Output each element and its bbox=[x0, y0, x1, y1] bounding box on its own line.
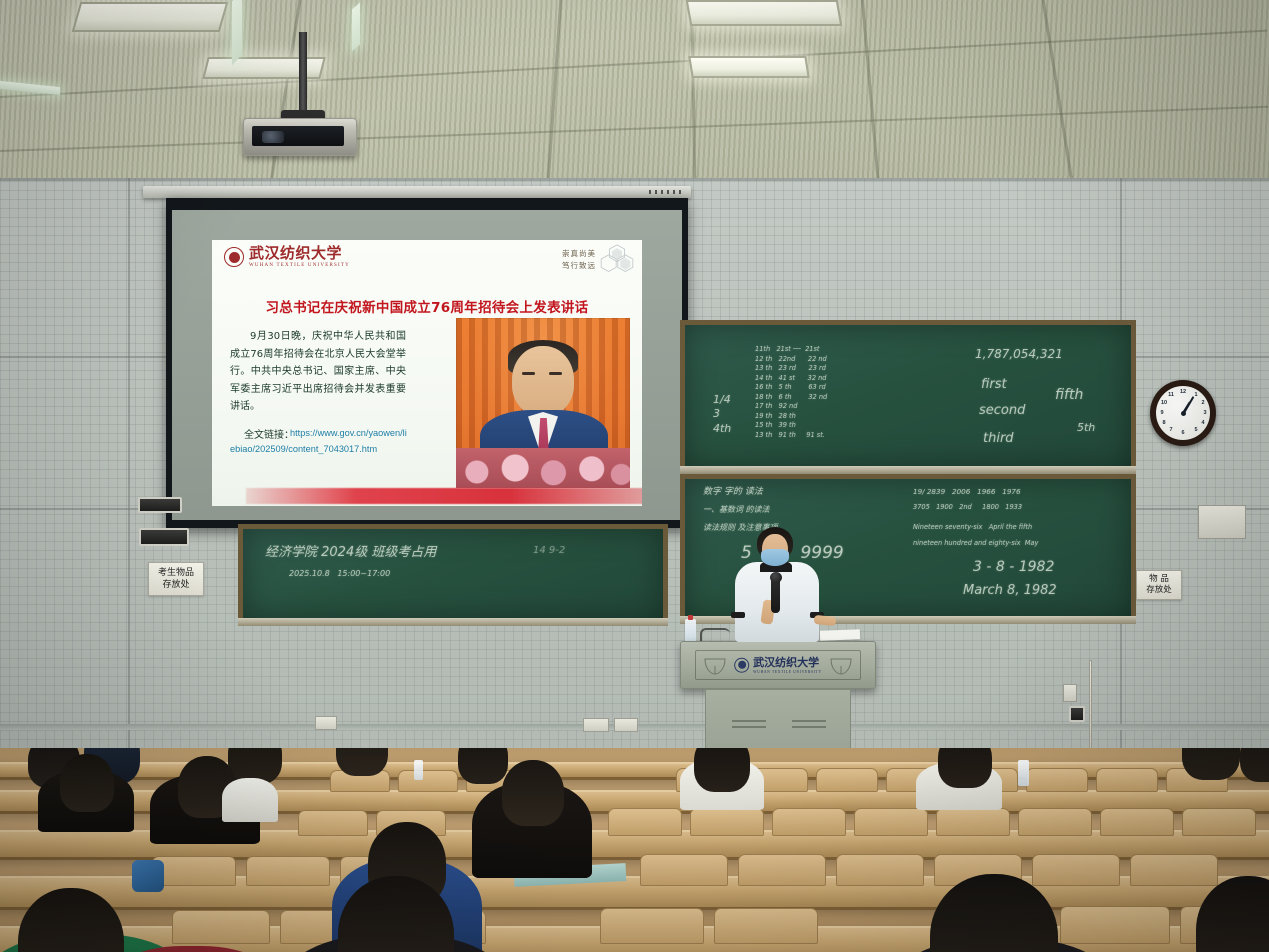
wall-outlet-box[interactable] bbox=[1069, 706, 1085, 722]
hexagon-decoration-icon bbox=[600, 244, 634, 274]
projection-screen-housing[interactable] bbox=[143, 186, 691, 198]
blackboard-ordinal-first: first bbox=[981, 377, 1007, 393]
blackboard-ordinals-column: 11th 21st ── 21st 12 th 22nd 22 nd 13 th… bbox=[755, 345, 827, 440]
slide-motto: 崇真尚美 笃行致远 bbox=[562, 248, 596, 271]
wall-conduit bbox=[1089, 660, 1092, 750]
blackboard-left-chalk-tray bbox=[238, 618, 668, 626]
seat[interactable] bbox=[1182, 808, 1256, 836]
seat[interactable] bbox=[152, 856, 236, 886]
blackboard-ordinal-5th: 5th bbox=[1077, 421, 1095, 435]
slide-title: 习总书记在庆祝新中国成立76周年招待会上发表讲话 bbox=[212, 296, 642, 316]
projector-mount-pole bbox=[299, 32, 307, 118]
seat[interactable] bbox=[836, 854, 924, 886]
wall-switch-plate-left2 bbox=[614, 718, 638, 732]
slide-body-text: 9月30日晚，庆祝中华人民共和国成立76周年招待会在北京人民大会堂举行。中共中央… bbox=[230, 328, 406, 416]
blackboard-ordinal-second: second bbox=[979, 403, 1025, 419]
seat[interactable] bbox=[246, 856, 330, 886]
blackboard-right-top-tray bbox=[680, 466, 1136, 474]
clock-numeral: 11 bbox=[1167, 392, 1175, 398]
student-head bbox=[694, 748, 750, 792]
slide-university-header: 武汉纺织大学 WUHAN TEXTILE UNIVERSITY bbox=[224, 246, 350, 268]
clock-numeral: 8 bbox=[1160, 420, 1168, 426]
clock-numeral: 7 bbox=[1167, 427, 1175, 433]
blackboard-en-line-1: 19/ 2839 2006 1966 1976 bbox=[913, 487, 1021, 496]
lecture-notes[interactable] bbox=[820, 629, 860, 640]
seat[interactable] bbox=[1026, 768, 1088, 792]
sign-left-line-1: 考生物品 存放处 bbox=[149, 567, 203, 591]
student-head bbox=[938, 748, 992, 788]
seat[interactable] bbox=[298, 810, 368, 836]
blackboard-left: 经济学院 2024级 班级考占用 2025.10.8 15:00~17:00 1… bbox=[238, 524, 668, 624]
clock-numeral: 5 bbox=[1192, 427, 1200, 433]
blackboard-ordinal-third: third bbox=[983, 431, 1014, 447]
blackboard-fraction-note: 1/4 3 4th bbox=[713, 393, 731, 436]
blackboard-left-line-1: 经济学院 2024级 班级考占用 bbox=[265, 545, 436, 561]
wall-panel-plate bbox=[1198, 505, 1246, 539]
lecture-hall-scene: 武汉纺织大学 WUHAN TEXTILE UNIVERSITY 崇真尚美 笃行致… bbox=[0, 0, 1269, 952]
wall-clock: 12 1 2 3 4 5 6 7 8 9 10 11 bbox=[1150, 380, 1216, 446]
university-name-en: WUHAN TEXTILE UNIVERSITY bbox=[249, 263, 350, 268]
photo-figure-eye-left bbox=[522, 372, 535, 375]
seat[interactable] bbox=[936, 808, 1010, 836]
seat[interactable] bbox=[854, 808, 928, 836]
audience-seating-area bbox=[0, 748, 1269, 952]
podium-university-name-en: WUHAN TEXTILE UNIVERSITY bbox=[753, 669, 822, 673]
blackboard-right-top: 11th 21st ── 21st 12 th 22nd 22 nd 13 th… bbox=[680, 320, 1136, 472]
clock-face: 12 1 2 3 4 5 6 7 8 9 10 11 bbox=[1156, 386, 1210, 440]
university-seal-icon bbox=[224, 247, 244, 267]
clock-numeral: 4 bbox=[1199, 420, 1207, 426]
motto-line-1: 崇真尚美 bbox=[562, 248, 596, 260]
seat[interactable] bbox=[714, 908, 818, 944]
clock-numeral: 9 bbox=[1158, 410, 1166, 416]
wall-speaker-box bbox=[138, 497, 182, 513]
slide-footer-bar bbox=[246, 488, 642, 504]
podium-seal-icon bbox=[734, 658, 749, 673]
blackboard-left-corner-note: 14 9-2 bbox=[533, 545, 565, 558]
seat[interactable] bbox=[600, 908, 704, 944]
blackboard-en-line-3: Nineteen seventy-six April the fifth bbox=[913, 523, 1032, 531]
university-name-cn: 武汉纺织大学 bbox=[249, 246, 350, 261]
lecturer-sleeve-left bbox=[731, 612, 745, 618]
seat[interactable] bbox=[772, 808, 846, 836]
ceiling-light-panel bbox=[688, 56, 809, 78]
student-shoulders bbox=[222, 778, 278, 822]
seat[interactable] bbox=[690, 808, 764, 836]
lecturer-face-mask bbox=[761, 549, 789, 566]
slide-photo bbox=[456, 318, 630, 488]
wall-switch-plate bbox=[1063, 684, 1077, 702]
student-head bbox=[502, 760, 564, 826]
clock-numeral: 12 bbox=[1179, 389, 1187, 395]
screen-surface: 武汉纺织大学 WUHAN TEXTILE UNIVERSITY 崇真尚美 笃行致… bbox=[172, 210, 682, 520]
seat[interactable] bbox=[1100, 808, 1174, 836]
ceiling-tube-light bbox=[232, 0, 242, 66]
ceiling-light-panel bbox=[686, 0, 843, 26]
photo-figure-head bbox=[512, 346, 574, 416]
podium-university-logo: 武汉纺织大学 WUHAN TEXTILE UNIVERSITY bbox=[734, 657, 822, 674]
blackboard-cn-heading: 数字 字的 读法 bbox=[703, 487, 763, 498]
seat[interactable] bbox=[1130, 854, 1218, 886]
ceiling-tube-light bbox=[352, 3, 360, 52]
student-head bbox=[336, 748, 388, 776]
student-water-bottle-2 bbox=[414, 760, 423, 780]
blackboard-ordinal-fifth: fifth bbox=[1055, 387, 1083, 405]
sign-exam-belongings-left: 考生物品 存放处 bbox=[148, 562, 204, 596]
water-bottle[interactable] bbox=[685, 619, 696, 643]
blackboard-cn-line-2: 一、基数词 的读法 bbox=[703, 505, 770, 515]
podium-university-name-cn: 武汉纺织大学 bbox=[753, 657, 822, 668]
screen-control-dots bbox=[649, 190, 683, 194]
clock-numeral: 6 bbox=[1179, 430, 1187, 436]
blackboard-en-line-2: 3705 1900 2nd 1800 1933 bbox=[913, 503, 1022, 511]
wall-switch-plate-left bbox=[583, 718, 609, 732]
ceiling-light-panel bbox=[202, 57, 325, 79]
student-head bbox=[60, 754, 114, 812]
student-head bbox=[1182, 748, 1240, 780]
sign-right-line-1: 物 品 存放处 bbox=[1137, 574, 1181, 597]
photo-figure-eye-right bbox=[549, 372, 562, 375]
projection-screen[interactable]: 武汉纺织大学 WUHAN TEXTILE UNIVERSITY 崇真尚美 笃行致… bbox=[166, 198, 688, 528]
microphone-stand bbox=[700, 628, 730, 642]
handheld-microphone[interactable] bbox=[771, 577, 780, 613]
student-water-bottle bbox=[1018, 760, 1029, 786]
slide-link-url[interactable]: https://www.gov.cn/yaowen/liebiao/202509… bbox=[230, 426, 410, 458]
podium-emblem-right-icon bbox=[829, 656, 853, 676]
clock-center-pin bbox=[1181, 411, 1186, 416]
seat[interactable] bbox=[1096, 768, 1158, 792]
presentation-slide: 武汉纺织大学 WUHAN TEXTILE UNIVERSITY 崇真尚美 笃行致… bbox=[212, 240, 642, 506]
seat[interactable] bbox=[1060, 906, 1170, 944]
seat[interactable] bbox=[1032, 854, 1120, 886]
clock-numeral: 10 bbox=[1160, 400, 1168, 406]
podium-emblem-left-icon bbox=[703, 656, 727, 676]
blackboard-big-number: 1,787,054,321 bbox=[975, 347, 1063, 362]
motto-line-2: 笃行致远 bbox=[562, 260, 596, 272]
clock-numeral: 2 bbox=[1199, 400, 1207, 406]
seat[interactable] bbox=[738, 854, 826, 886]
student-head bbox=[458, 748, 508, 784]
podium[interactable]: 武汉纺织大学 WUHAN TEXTILE UNIVERSITY bbox=[680, 641, 876, 689]
seat[interactable] bbox=[398, 770, 458, 792]
seat[interactable] bbox=[608, 808, 682, 836]
seat[interactable] bbox=[640, 854, 728, 886]
blackboard-left-line-2: 2025.10.8 15:00~17:00 bbox=[289, 569, 390, 579]
blackboard-date-numeric: 3 - 8 - 1982 bbox=[973, 559, 1054, 577]
wall-plate-mid bbox=[315, 716, 337, 730]
seat[interactable] bbox=[172, 910, 270, 944]
blackboard-date-written: March 8, 1982 bbox=[963, 583, 1057, 599]
student-bag-blue bbox=[132, 860, 164, 892]
wall-equipment-box bbox=[139, 528, 189, 546]
seat[interactable] bbox=[816, 768, 878, 792]
sign-belongings-right: 物 品 存放处 bbox=[1136, 570, 1182, 600]
ceiling-projector[interactable] bbox=[243, 118, 357, 156]
photo-flower-arrangement bbox=[456, 448, 630, 488]
ceiling-light-panel bbox=[72, 2, 229, 32]
seat[interactable] bbox=[1018, 808, 1092, 836]
clock-numeral: 3 bbox=[1201, 410, 1209, 416]
blackboard-en-line-4: nineteen hundred and eighty-six May bbox=[913, 539, 1038, 547]
